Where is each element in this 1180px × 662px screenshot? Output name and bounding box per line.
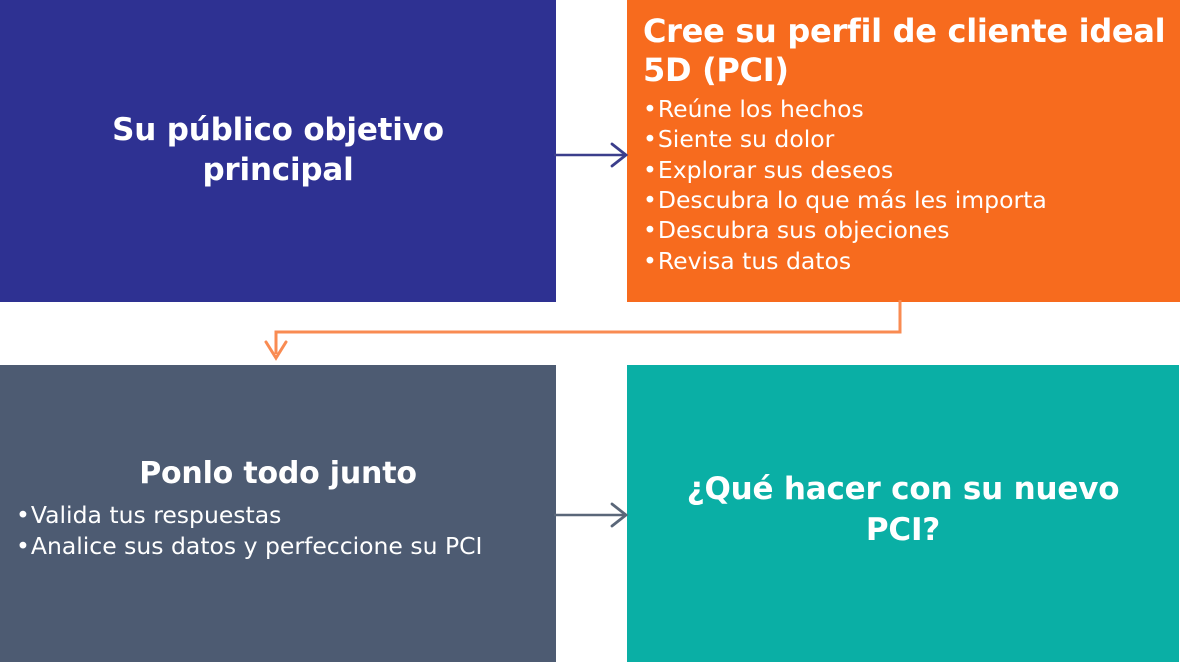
bullet-icon: •	[643, 124, 657, 154]
bullet-icon: •	[643, 155, 657, 185]
list-item-label: Siente su dolor	[658, 125, 834, 153]
bullet-icon: •	[643, 246, 657, 276]
box-put-together-title: Ponlo todo junto	[0, 456, 556, 492]
box-what-next-title: ¿Qué hacer con su nuevo PCI?	[627, 469, 1179, 550]
list-item: •Explorar sus deseos	[643, 155, 1166, 185]
bullet-icon: •	[643, 215, 657, 245]
list-item-label: Valida tus respuestas	[31, 501, 282, 529]
list-item: •Revisa tus datos	[643, 246, 1166, 276]
list-item: •Reúne los hechos	[643, 94, 1166, 124]
list-item: •Valida tus respuestas	[16, 500, 556, 531]
list-item-label: Reúne los hechos	[658, 95, 864, 123]
list-item: •Analice sus datos y perfeccione su PCI	[16, 531, 556, 562]
box-create-profile-bullets: •Reúne los hechos •Siente su dolor •Expl…	[643, 94, 1166, 276]
box-target-audience-title: Su público objetivo principal	[0, 111, 556, 190]
list-item: •Siente su dolor	[643, 124, 1166, 154]
list-item-label: Analice sus datos y perfeccione su PCI	[31, 532, 483, 560]
list-item-label: Descubra sus objeciones	[658, 216, 950, 244]
list-item: •Descubra sus objeciones	[643, 215, 1166, 245]
box-put-together[interactable]: Ponlo todo junto •Valida tus respuestas …	[0, 365, 556, 662]
arrow-profile-to-summary-icon	[260, 298, 920, 366]
list-item-label: Revisa tus datos	[658, 247, 851, 275]
arrow-audience-to-profile-icon	[552, 132, 634, 178]
bullet-icon: •	[16, 531, 30, 562]
box-target-audience[interactable]: Su público objetivo principal	[0, 0, 556, 302]
box-create-profile-title: Cree su perfil de cliente ideal 5D (PCI)	[643, 12, 1166, 90]
list-item-label: Descubra lo que más les importa	[658, 186, 1047, 214]
list-item: •Descubra lo que más les importa	[643, 185, 1166, 215]
box-create-profile[interactable]: Cree su perfil de cliente ideal 5D (PCI)…	[627, 0, 1180, 302]
box-put-together-bullets: •Valida tus respuestas •Analice sus dato…	[0, 500, 556, 563]
arrow-summary-to-next-icon	[552, 492, 634, 538]
diagram-canvas: Su público objetivo principal Cree su pe…	[0, 0, 1180, 662]
box-what-next[interactable]: ¿Qué hacer con su nuevo PCI?	[627, 365, 1179, 662]
list-item-label: Explorar sus deseos	[658, 156, 893, 184]
bullet-icon: •	[16, 500, 30, 531]
bullet-icon: •	[643, 185, 657, 215]
bullet-icon: •	[643, 94, 657, 124]
